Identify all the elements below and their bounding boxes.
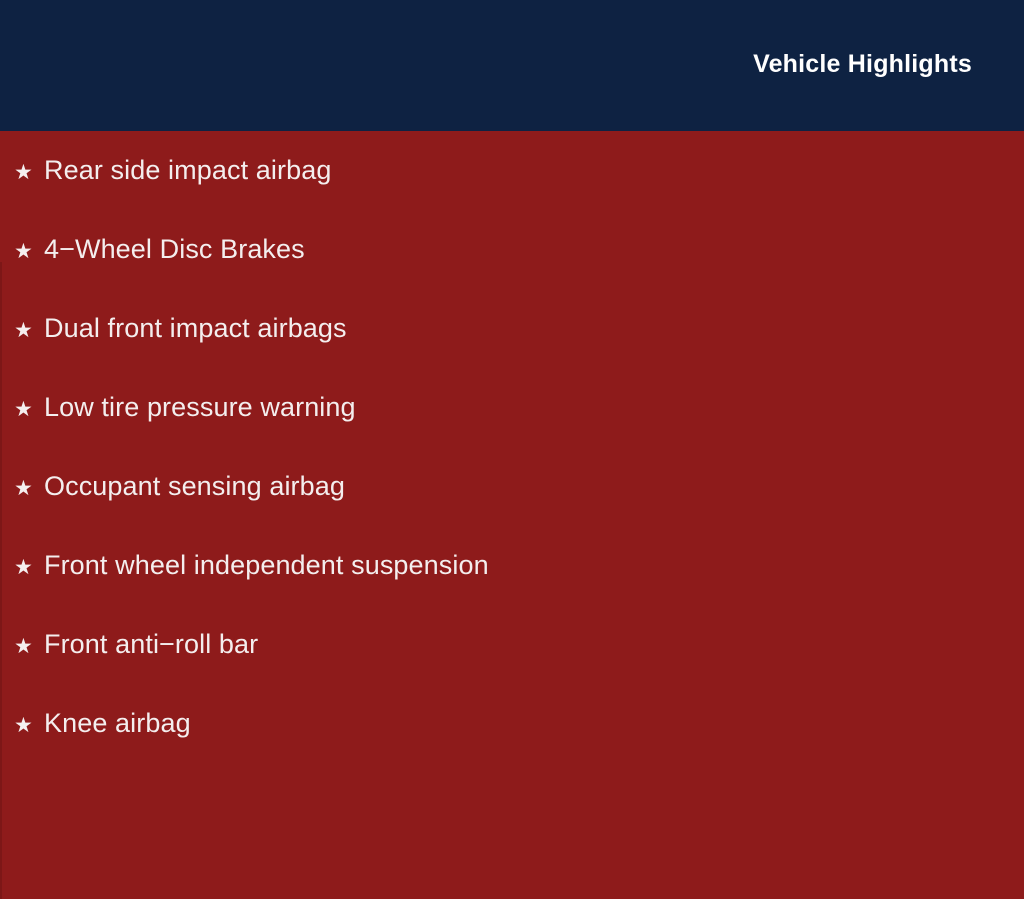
list-item: ★Front wheel independent suspension: [14, 552, 489, 592]
star-icon: ★: [14, 320, 44, 341]
list-item: ★Dual front impact airbags: [14, 315, 347, 355]
list-item-label: Occupant sensing airbag: [44, 473, 345, 500]
star-icon: ★: [14, 557, 44, 578]
list-item-label: Dual front impact airbags: [44, 315, 347, 342]
star-icon: ★: [14, 399, 44, 420]
list-item-label: Front anti−roll bar: [44, 631, 258, 658]
left-edge-divider: [0, 262, 2, 899]
page-title: Vehicle Highlights: [753, 48, 972, 80]
list-item-label: Front wheel independent suspension: [44, 552, 489, 579]
list-item: ★Low tire pressure warning: [14, 394, 356, 434]
star-icon: ★: [14, 478, 44, 499]
list-item: ★Knee airbag: [14, 710, 191, 750]
list-item-label: Rear side impact airbag: [44, 157, 331, 184]
list-item-label: 4−Wheel Disc Brakes: [44, 236, 305, 263]
star-icon: ★: [14, 241, 44, 262]
header-bar: Vehicle Highlights: [0, 0, 1024, 131]
highlights-body: ★Rear side impact airbag★4−Wheel Disc Br…: [0, 131, 1024, 768]
list-item-label: Knee airbag: [44, 710, 191, 737]
star-icon: ★: [14, 162, 44, 183]
list-item: ★4−Wheel Disc Brakes: [14, 236, 305, 276]
vehicle-highlights-slide: Vehicle Highlights ★Rear side impact air…: [0, 0, 1024, 768]
list-item: ★Rear side impact airbag: [14, 157, 331, 197]
star-icon: ★: [14, 715, 44, 736]
star-icon: ★: [14, 636, 44, 657]
list-item: ★Front anti−roll bar: [14, 631, 258, 671]
list-item: ★Occupant sensing airbag: [14, 473, 345, 513]
list-item-label: Low tire pressure warning: [44, 394, 356, 421]
